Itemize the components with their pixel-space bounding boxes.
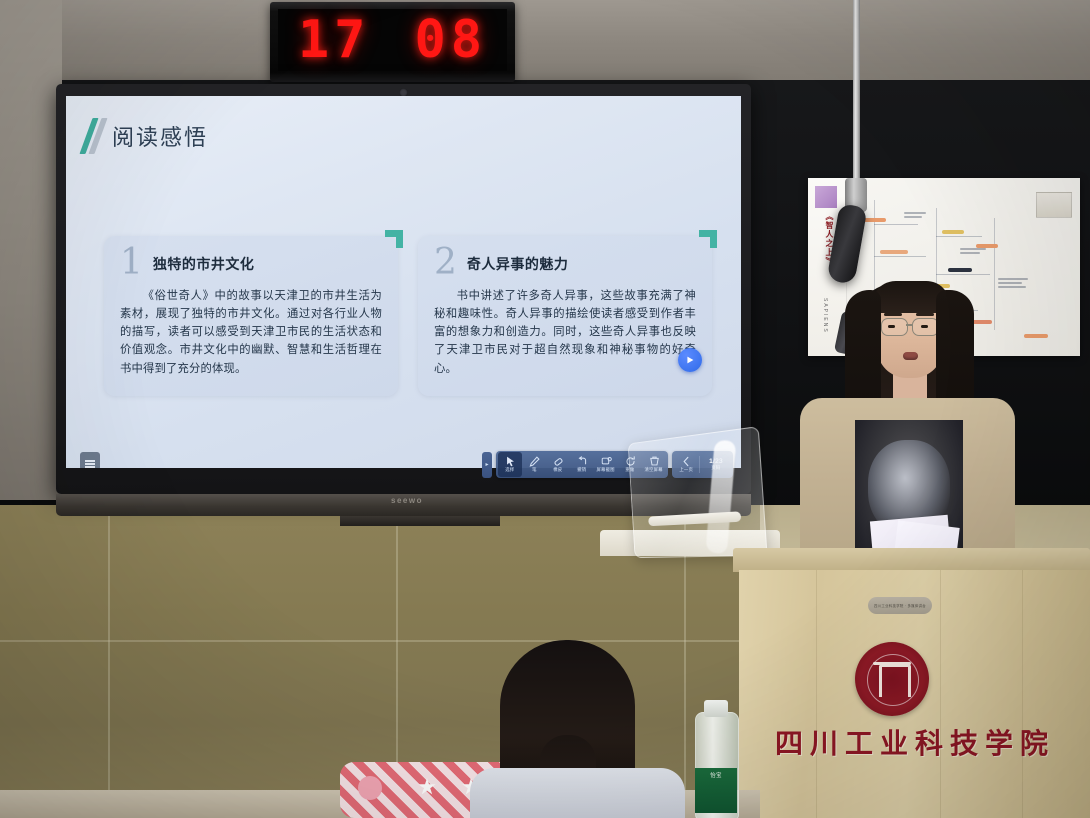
cushion-bear-decor [358, 776, 382, 800]
toolbar-collapse-handle[interactable]: ▸ [482, 452, 492, 478]
university-seal-icon [855, 642, 929, 716]
card-body-text: 《俗世奇人》中的故事以天津卫的市井生活为素材，展现了独特的市井文化。通过对各行业… [104, 278, 398, 378]
clock-minutes: 08 [415, 14, 488, 66]
student-shirt [470, 768, 685, 818]
card-header: 1 独特的市井文化 [104, 236, 398, 278]
presenter-mouth [903, 352, 918, 360]
poster-thumbnail [1036, 192, 1072, 218]
card-title: 独特的市井文化 [153, 254, 255, 278]
corner-accent-icon [385, 230, 403, 248]
page-title: 阅读感悟 [112, 120, 208, 152]
tool-undo-button[interactable]: 撤销 [570, 452, 594, 477]
content-card[interactable]: 1 独特的市井文化 《俗世奇人》中的故事以天津卫的市井生活为素材，展现了独特的市… [104, 236, 398, 396]
tile-grout-line [108, 505, 110, 818]
list-icon[interactable] [80, 452, 100, 468]
acrylic-shield [628, 426, 768, 558]
clock-hours: 17 [298, 14, 371, 66]
microphone-pole [853, 0, 860, 188]
tool-label: 选择 [505, 468, 514, 472]
bottle-cap [704, 700, 728, 717]
shield-glare [706, 440, 737, 554]
card-body-text: 书中讲述了许多奇人异事，这些故事充满了神秘和趣味性。奇人异事的描绘使读者感受到作… [418, 278, 712, 378]
card-number: 2 [434, 248, 457, 278]
content-card-list: 1 独特的市井文化 《俗世奇人》中的故事以天津卫的市井生活为素材，展现了独特的市… [104, 236, 712, 396]
lectern-top [733, 548, 1090, 572]
card-header: 2 奇人异事的魅力 [418, 236, 712, 278]
digital-wall-clock: 17 08 [270, 2, 515, 82]
tool-label: 笔 [532, 468, 537, 472]
corner-accent-icon [699, 230, 717, 248]
card-number: 1 [120, 248, 143, 278]
poster-footer: SAPIENS [816, 298, 828, 334]
bottle-brand-text: 怡宝 [710, 771, 721, 779]
tool-pen-button[interactable]: 笔 [522, 452, 546, 477]
eyeglasses-bridge [906, 324, 912, 326]
board-brand-logo: seewo [372, 496, 442, 508]
presenter-eyebrow [916, 313, 934, 316]
slide-header: 阅读感悟 [86, 118, 208, 154]
left-wall-strip [0, 0, 62, 500]
school-name-text: 四川工业科技学院 [760, 722, 1070, 762]
content-card[interactable]: 2 奇人异事的魅力 书中讲述了许多奇人异事，这些故事充满了神秘和趣味性。奇人异事… [418, 236, 712, 396]
board-screen[interactable]: 阅读感悟 1 独特的市井文化 《俗世奇人》中的故事以天津卫的市井生活为素材，展现… [66, 96, 741, 468]
lectern-plate-text: 四川工业科技学院 · 多媒体讲台 [874, 603, 926, 608]
tool-eraser-button[interactable]: 橡皮 [546, 452, 570, 477]
play-icon[interactable] [678, 348, 702, 372]
tool-label: 橡皮 [553, 468, 562, 472]
presenter-eyebrow [884, 313, 902, 316]
tool-label: 屏幕截图 [597, 468, 615, 472]
classroom-scene: 17 08 《智人之上》 思维导图 SAPIENS [0, 0, 1090, 818]
tool-label: 撤销 [577, 468, 586, 472]
presenter-eye [921, 325, 928, 328]
tool-select-button[interactable]: 选择 [498, 452, 522, 477]
tool-screenshot-button[interactable]: 屏幕截图 [594, 452, 618, 477]
poster-stamp [815, 186, 837, 208]
presenter-eye [888, 325, 895, 328]
clock-display: 17 08 [278, 9, 507, 71]
card-title: 奇人异事的魅力 [467, 254, 569, 278]
title-slash-decor [79, 118, 107, 154]
board-stand [340, 516, 500, 526]
lectern-nameplate: 四川工业科技学院 · 多媒体讲台 [868, 597, 932, 614]
bottle-label: 怡宝 [695, 768, 737, 813]
